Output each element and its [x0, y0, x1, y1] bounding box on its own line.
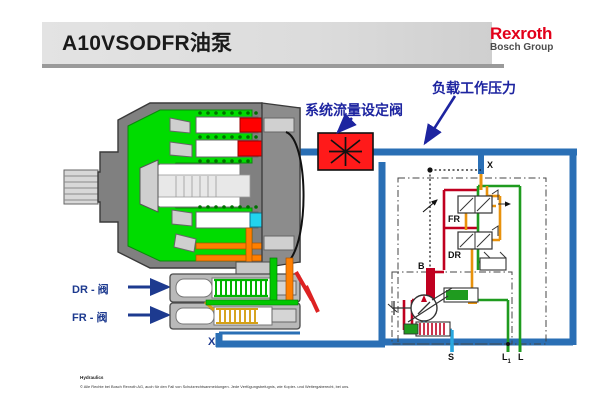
control-piston-symbol — [480, 252, 506, 270]
drive-shaft — [64, 170, 98, 204]
pump-cutaway-drawing — [64, 103, 304, 280]
schematic-label-l: L — [518, 352, 524, 362]
annotation-load-working-pressure: 负载工作压力 — [432, 78, 516, 98]
annotation-flow-setting-valve: 系统流量设定阀 — [305, 100, 403, 120]
footer-heading: Hydraulics — [80, 375, 104, 380]
fr-valve-symbol — [458, 190, 510, 213]
schematic-label-s: S — [448, 352, 454, 362]
flow-setting-valve-symbol — [318, 133, 373, 170]
schematic-label-b: B — [418, 261, 425, 271]
dr-valve-cartridge — [170, 274, 300, 302]
relief-valve-symbol — [404, 322, 450, 336]
schematic-label-fr: FR — [448, 214, 460, 224]
label-dr-valve: DR - 阀 — [72, 281, 109, 297]
schematic-label-l1: L1 — [502, 352, 511, 365]
schematic-label-x: X — [487, 160, 493, 170]
hydraulic-schematic — [388, 167, 546, 352]
valve-pointer-arrows — [128, 287, 168, 315]
swash-plate — [140, 160, 158, 212]
footer-copyright: © Alle Rechte bei Bosch Rexroth AG, auch… — [80, 384, 580, 389]
schematic-label-dr: DR — [448, 250, 461, 260]
fr-valve-cartridge — [170, 302, 300, 329]
label-fr-valve: FR - 阀 — [72, 309, 107, 325]
label-port-x-pump: X — [208, 336, 215, 348]
